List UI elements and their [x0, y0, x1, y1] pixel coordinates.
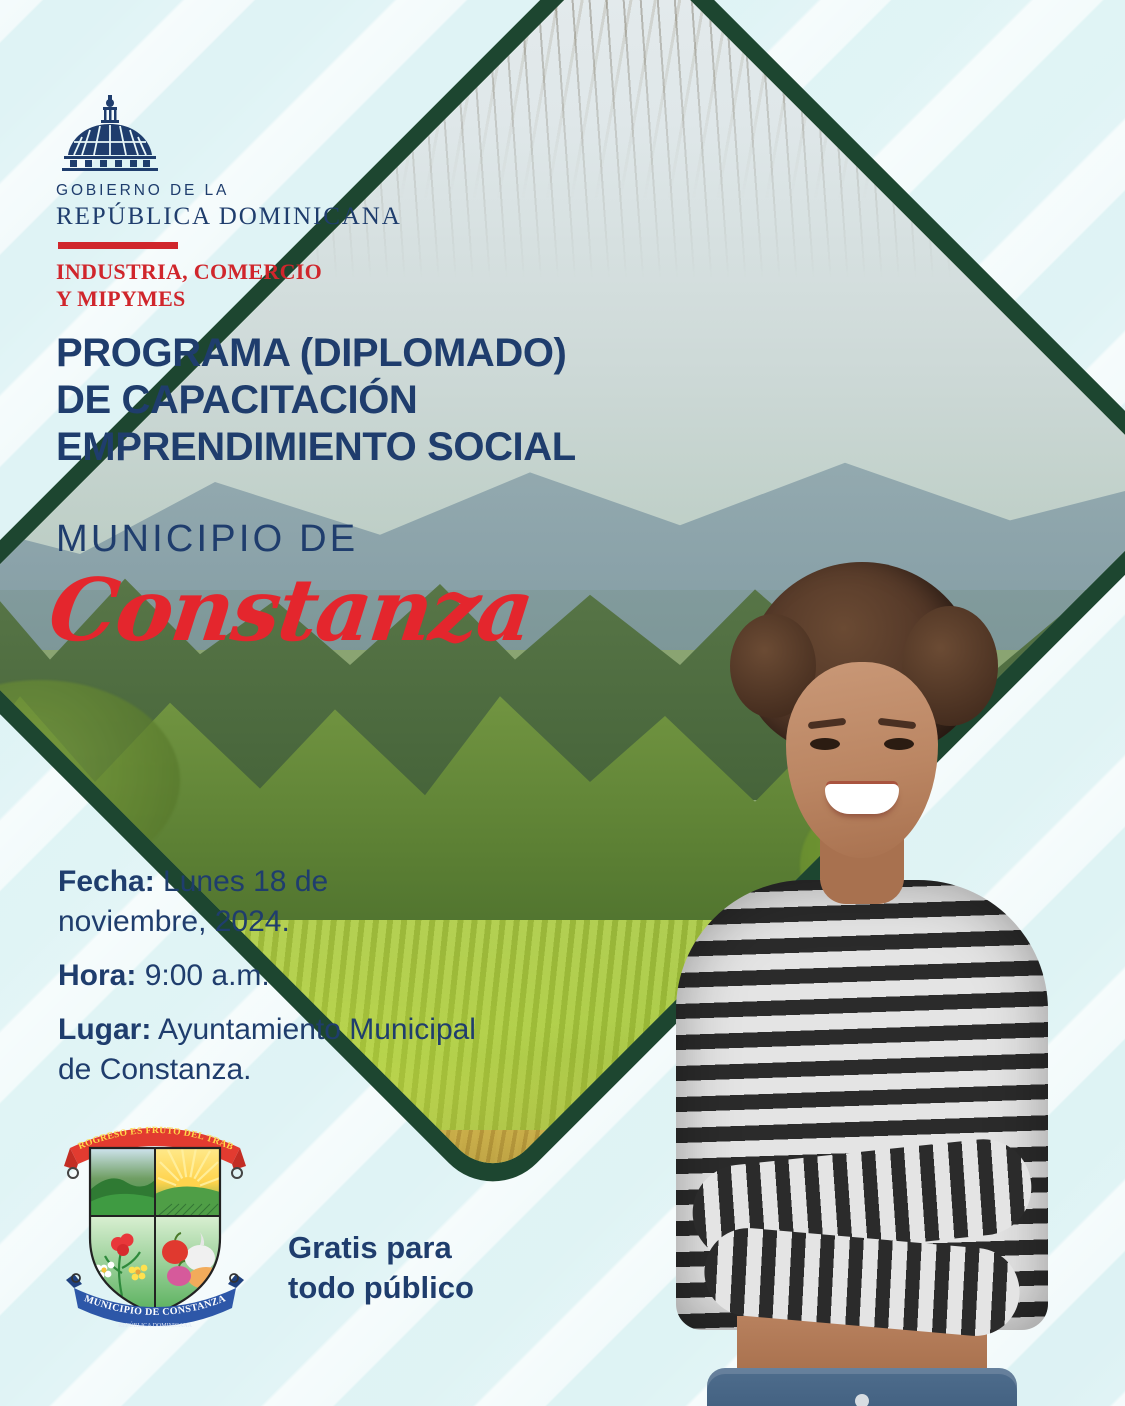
- gov-line-2: REPÚBLICA DOMINICANA: [56, 203, 486, 231]
- smile: [825, 784, 899, 814]
- free-notice-line-1: Gratis para: [288, 1228, 474, 1268]
- ministry-name: INDUSTRIA, COMERCIO Y MIPYMES: [56, 259, 486, 313]
- government-logo: GOBIERNO DE LA REPÚBLICA DOMINICANA INDU…: [56, 95, 486, 313]
- eyebrow-left: [808, 718, 847, 730]
- poster-canvas: GOBIERNO DE LA REPÚBLICA DOMINICANA INDU…: [0, 0, 1125, 1406]
- face: [786, 662, 938, 858]
- headline-line-3: EMPRENDIMIENTO SOCIAL: [56, 424, 696, 471]
- eyebrow-right: [878, 718, 917, 730]
- municipality-name: Constanza: [44, 560, 538, 661]
- headline: PROGRAMA (DIPLOMADO) DE CAPACITACIÓN EMP…: [56, 330, 696, 470]
- free-notice-line-2: todo público: [288, 1268, 474, 1308]
- capitol-dome-icon: [62, 95, 158, 173]
- jeans: [707, 1368, 1017, 1406]
- coa-bottom-subtext: REPÚBLICA DOMINICANA: [118, 1321, 193, 1329]
- red-divider: [58, 242, 178, 249]
- gov-line-1: GOBIERNO DE LA: [56, 182, 486, 200]
- ministry-line-1: INDUSTRIA, COMERCIO: [56, 259, 486, 286]
- headline-line-2: DE CAPACITACIÓN: [56, 377, 696, 424]
- coat-of-arms-graphic: EL PROGRESO ES FRUTO DEL TRABAJO: [60, 1118, 250, 1333]
- detail-time: Hora: 9:00 a.m.: [58, 956, 478, 996]
- eye-right: [884, 738, 914, 750]
- photo-subject-woman: [627, 550, 1097, 1406]
- eye-left: [810, 738, 840, 750]
- detail-time-value: 9:00 a.m.: [145, 959, 270, 992]
- detail-date: Fecha: Lunes 18 de noviembre, 2024.: [58, 862, 478, 942]
- coa-shield: [90, 1148, 224, 1314]
- content-column: GOBIERNO DE LA REPÚBLICA DOMINICANA INDU…: [0, 0, 620, 1406]
- detail-date-label: Fecha:: [58, 865, 155, 898]
- detail-time-label: Hora:: [58, 959, 136, 992]
- event-details: Fecha: Lunes 18 de noviembre, 2024. Hora…: [58, 862, 478, 1103]
- coat-of-arms: EL PROGRESO ES FRUTO DEL TRABAJO: [60, 1118, 250, 1333]
- municipality-prefix: MUNICIPIO DE: [56, 518, 358, 561]
- detail-place-label: Lugar:: [58, 1013, 151, 1046]
- ministry-line-2: Y MIPYMES: [56, 286, 486, 313]
- detail-place: Lugar: Ayuntamiento Municipal de Constan…: [58, 1010, 478, 1090]
- headline-line-1: PROGRAMA (DIPLOMADO): [56, 330, 696, 377]
- free-notice: Gratis para todo público: [288, 1228, 474, 1307]
